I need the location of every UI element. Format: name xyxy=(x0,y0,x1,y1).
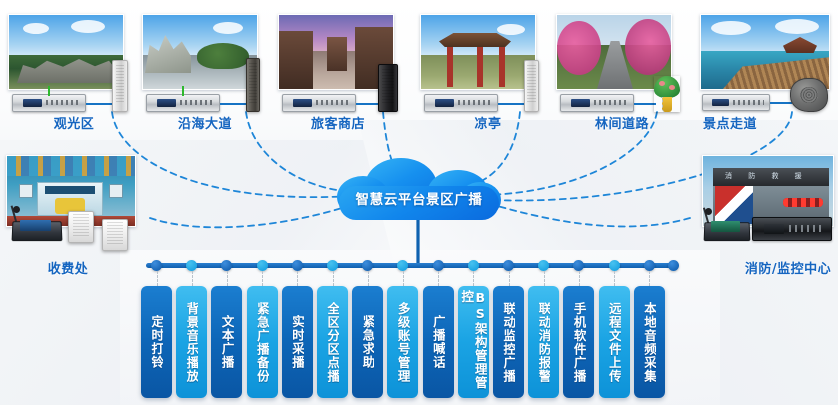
site-thumbnail xyxy=(278,14,394,90)
broadcast-system-diagram: 观光区 沿海大道 旅客商店 xyxy=(0,0,838,405)
bus-connector-dot-9 xyxy=(468,260,479,271)
amplifier-device xyxy=(146,94,220,112)
bus-stem-4 xyxy=(297,271,298,286)
feature-bar-label: 手机软件广播 xyxy=(572,302,586,383)
feature-bar-label: 远程文件上传 xyxy=(607,302,621,383)
feature-bar-label: 定时打铃 xyxy=(150,315,164,369)
speaker-wall xyxy=(68,211,94,243)
amplifier-device xyxy=(12,94,86,112)
bus-stem-12 xyxy=(579,271,580,286)
site-node-3[interactable] xyxy=(420,14,536,90)
amplifier-device xyxy=(282,94,356,112)
site-label-3: 凉亭 xyxy=(418,113,558,132)
feature-bar-label: 紧急求助 xyxy=(361,315,375,369)
feature-bar-label: 实时采播 xyxy=(291,315,305,369)
speaker-wall xyxy=(102,219,128,251)
amplifier-device xyxy=(424,94,498,112)
paging-console xyxy=(704,209,750,241)
rack-amplifier xyxy=(752,217,832,241)
bus-connector-dot-1 xyxy=(186,260,197,271)
feature-bar-7[interactable]: 多级账号管理 xyxy=(387,286,418,398)
site-thumbnail xyxy=(8,14,124,90)
bus-stem-8 xyxy=(438,271,439,286)
feature-bar-label: 联动消防报警 xyxy=(537,302,551,383)
speaker-rock xyxy=(790,78,828,112)
cloud-hub-label: 智慧云平台景区广播 xyxy=(335,188,503,208)
feature-bar-6[interactable]: 紧急求助 xyxy=(352,286,383,398)
site-node-2[interactable] xyxy=(278,14,394,90)
bus-stem-10 xyxy=(509,271,510,286)
feature-bar-5[interactable]: 全区分区点播 xyxy=(317,286,348,398)
bus-stem-13 xyxy=(614,271,615,286)
amplifier-device xyxy=(702,94,770,111)
background-panel-center xyxy=(120,250,720,405)
site-label-1: 沿海大道 xyxy=(135,113,275,132)
site-node-0[interactable] xyxy=(8,14,124,90)
bus-connector-dot-13 xyxy=(609,260,620,271)
bus-stem-0 xyxy=(157,271,158,286)
bus-connector-dot-5 xyxy=(327,260,338,271)
site-label-2: 旅客商店 xyxy=(268,113,408,132)
bus-stem-1 xyxy=(192,271,193,286)
feature-bar-10[interactable]: 联动监控广播 xyxy=(493,286,524,398)
feature-bar-12[interactable]: 手机软件广播 xyxy=(563,286,594,398)
bus-connector-dot-end xyxy=(668,260,679,271)
feature-bar-9[interactable]: BS架构管理管控 xyxy=(458,286,489,398)
bus-connector-dot-4 xyxy=(292,260,303,271)
bus-stem-7 xyxy=(403,271,404,286)
bus-connector-dot-3 xyxy=(257,260,268,271)
speaker-column xyxy=(378,64,398,112)
feature-bar-label: 广播喊话 xyxy=(431,315,445,369)
site-label-6: 收费处 xyxy=(0,258,138,277)
bus-stem-2 xyxy=(227,271,228,286)
bus-stem-14 xyxy=(649,271,650,286)
feature-bar-label: 多级账号管理 xyxy=(396,302,410,383)
bus-connector-dot-6 xyxy=(362,260,373,271)
site-node-4[interactable] xyxy=(556,14,672,90)
bus-stem-11 xyxy=(544,271,545,286)
speaker-column xyxy=(112,60,128,112)
bus-connector-dot-11 xyxy=(538,260,549,271)
bus-connector-dot-7 xyxy=(397,260,408,271)
feature-bar-1[interactable]: 背景音乐播放 xyxy=(176,286,207,398)
site-thumbnail xyxy=(142,14,258,90)
amplifier-device xyxy=(560,94,634,112)
site-thumbnail xyxy=(420,14,536,90)
feature-bar-label: 全区分区点播 xyxy=(326,302,340,383)
feature-bar-label: 文本广播 xyxy=(220,315,234,369)
bus-connector-dot-12 xyxy=(573,260,584,271)
feature-bar-label: 紧急广播备份 xyxy=(255,302,269,383)
feature-bar-13[interactable]: 远程文件上传 xyxy=(599,286,630,398)
feature-bar-label: BS架构管理管控 xyxy=(460,290,487,394)
feature-bar-label: 本地音频采集 xyxy=(643,302,657,383)
feature-bar-label: 背景音乐播放 xyxy=(185,302,199,383)
feature-bar-8[interactable]: 广播喊话 xyxy=(423,286,454,398)
bus-connector-dot-14 xyxy=(644,260,655,271)
site-label-7: 消防/监控中心 xyxy=(718,258,838,277)
speaker-column xyxy=(524,60,539,112)
site-node-6[interactable] xyxy=(6,155,136,227)
feature-bar-4[interactable]: 实时采播 xyxy=(282,286,313,398)
bus-stem-3 xyxy=(262,271,263,286)
bus-connector-dot-10 xyxy=(503,260,514,271)
feature-bar-2[interactable]: 文本广播 xyxy=(211,286,242,398)
speaker-mushroom xyxy=(654,76,680,112)
bus-stem-6 xyxy=(368,271,369,286)
feature-bar-label: 联动监控广播 xyxy=(502,302,516,383)
bus-stem-9 xyxy=(473,271,474,286)
bus-stem-5 xyxy=(333,271,334,286)
bus-connector-dot-8 xyxy=(433,260,444,271)
feature-bar-11[interactable]: 联动消防报警 xyxy=(528,286,559,398)
feature-bar-3[interactable]: 紧急广播备份 xyxy=(247,286,278,398)
cloud-platform-hub[interactable]: 智慧云平台景区广播 xyxy=(335,158,503,220)
bus-connector-dot-0 xyxy=(151,260,162,271)
site-node-5[interactable] xyxy=(700,14,830,90)
site-label-0: 观光区 xyxy=(4,113,144,132)
site-node-7[interactable]: 消 防 救 援 xyxy=(702,155,834,227)
site-node-1[interactable] xyxy=(142,14,258,90)
bus-connector-dot-2 xyxy=(221,260,232,271)
feature-bar-14[interactable]: 本地音频采集 xyxy=(634,286,665,398)
paging-console xyxy=(12,207,62,241)
feature-bar-0[interactable]: 定时打铃 xyxy=(141,286,172,398)
site-label-5: 景点走道 xyxy=(660,113,800,132)
speaker-column xyxy=(246,58,260,112)
